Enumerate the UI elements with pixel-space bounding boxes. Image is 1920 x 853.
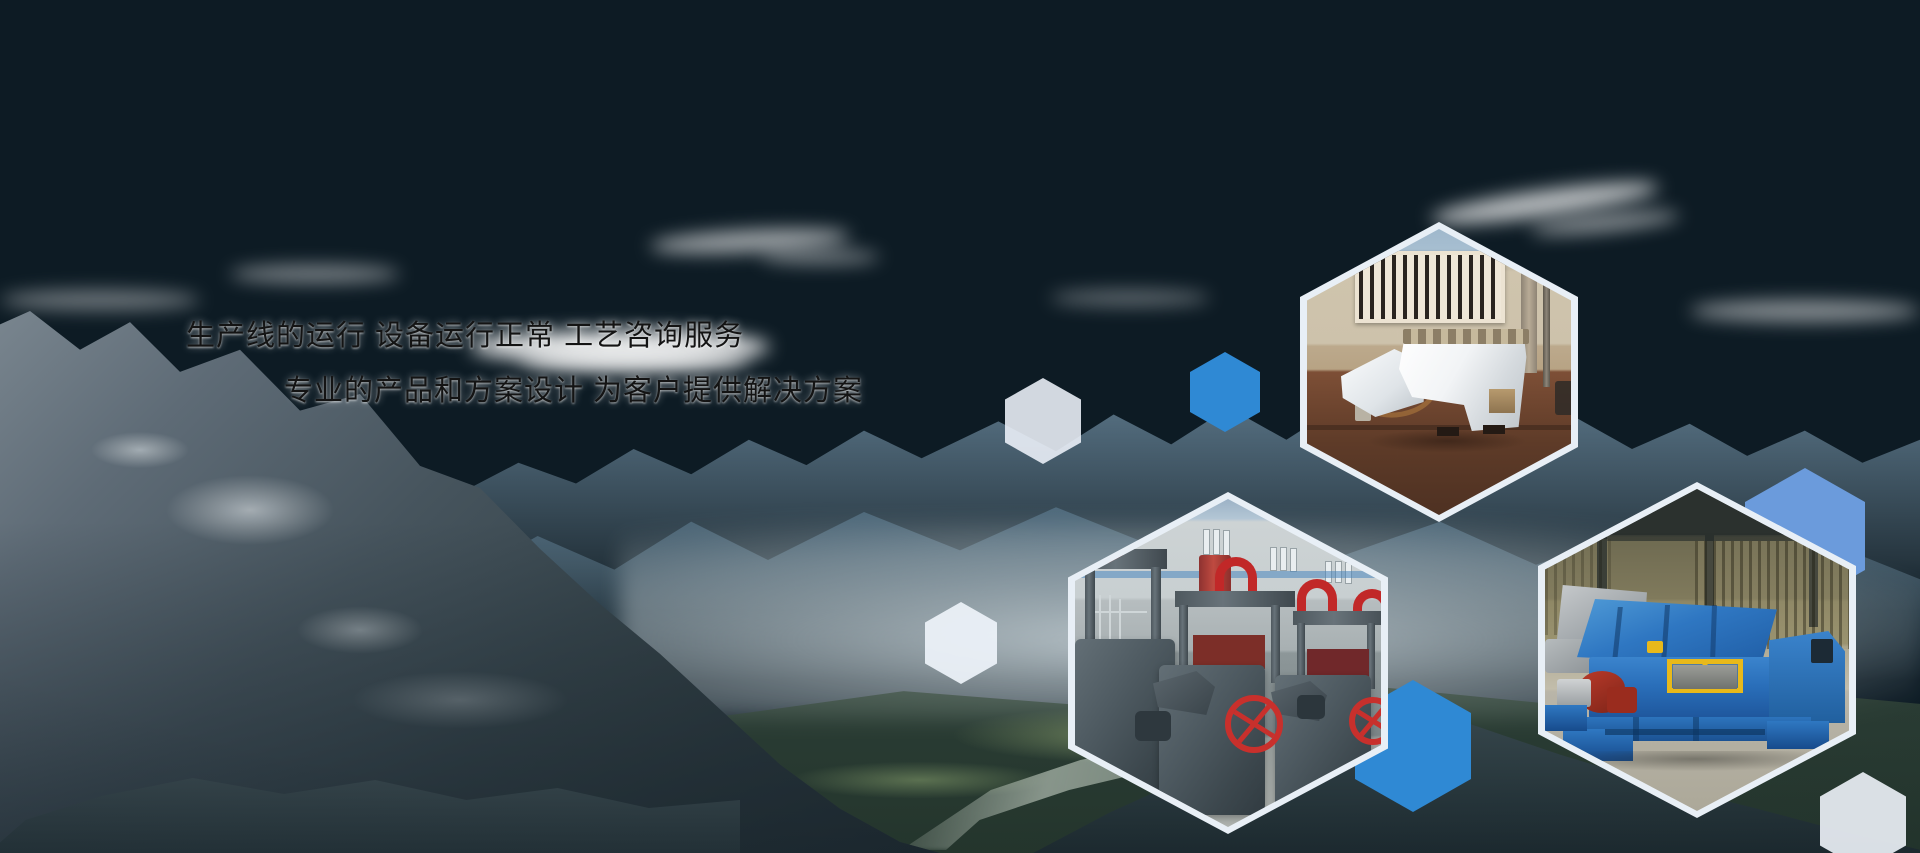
yard-equipment: [1555, 381, 1571, 415]
hero-headline: 生产线的运行 设备运行正常 工艺咨询服务 专业的产品和方案设计 为客户提供解决方…: [186, 322, 1086, 406]
ladle-flange: [1403, 329, 1529, 344]
ladle-fitting: [1489, 389, 1515, 413]
photo-white-ladle-image: [1307, 229, 1571, 515]
building-window: [1355, 251, 1505, 323]
hero-banner: 生产线的运行 设备运行正常 工艺咨询服务 专业的产品和方案设计 为客户提供解决方…: [0, 0, 1920, 853]
ladle-body: [1399, 333, 1529, 433]
headline-line-2: 专业的产品和方案设计 为客户提供解决方案: [186, 377, 1086, 406]
headline-line-1: 生产线的运行 设备运行正常 工艺咨询服务: [186, 322, 1086, 377]
